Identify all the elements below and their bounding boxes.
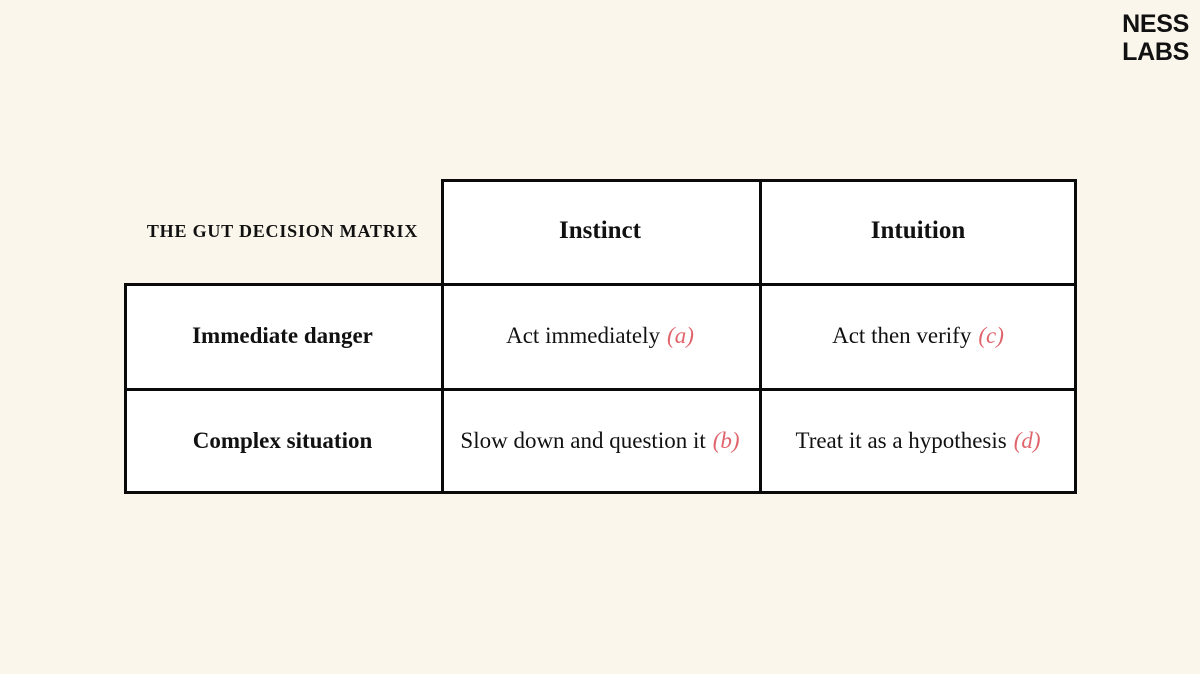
brand-logo: NESS LABS xyxy=(1122,10,1189,66)
cell-complex-situation-instinct: Slow down and question it (b) xyxy=(441,388,759,494)
cell-text: Act immediately xyxy=(506,323,660,349)
cell-marker: (d) xyxy=(1014,428,1041,454)
matrix-rule-column-divider-1 xyxy=(441,179,444,494)
cell-marker: (c) xyxy=(978,323,1004,349)
row-header-complex-situation: Complex situation xyxy=(124,388,441,494)
column-header-instinct: Instinct xyxy=(441,179,759,283)
brand-line-1: NESS xyxy=(1122,10,1189,38)
cell-complex-situation-intuition: Treat it as a hypothesis (d) xyxy=(759,388,1077,494)
cell-text: Act then verify xyxy=(832,323,971,349)
matrix-rule-bottom xyxy=(124,491,1077,494)
row-header-immediate-danger: Immediate danger xyxy=(124,283,441,388)
cell-marker: (b) xyxy=(713,428,740,454)
cell-immediate-danger-instinct: Act immediately (a) xyxy=(441,283,759,388)
cell-marker: (a) xyxy=(667,323,694,349)
brand-line-2: LABS xyxy=(1122,38,1189,66)
matrix-rule-header-divider xyxy=(124,283,1077,286)
column-header-intuition: Intuition xyxy=(759,179,1077,283)
matrix-grid: THE GUT DECISION MATRIX Instinct Intuiti… xyxy=(124,179,1077,494)
matrix-rule-right xyxy=(1074,179,1077,494)
gut-decision-matrix: THE GUT DECISION MATRIX Instinct Intuiti… xyxy=(124,179,1077,494)
cell-text: Treat it as a hypothesis xyxy=(795,428,1006,454)
cell-text: Slow down and question it xyxy=(460,428,705,454)
matrix-rule-column-divider-2 xyxy=(759,179,762,494)
cell-immediate-danger-intuition: Act then verify (c) xyxy=(759,283,1077,388)
matrix-rule-left xyxy=(124,283,127,494)
matrix-title: THE GUT DECISION MATRIX xyxy=(124,179,441,283)
matrix-rule-row-divider xyxy=(124,388,1077,391)
